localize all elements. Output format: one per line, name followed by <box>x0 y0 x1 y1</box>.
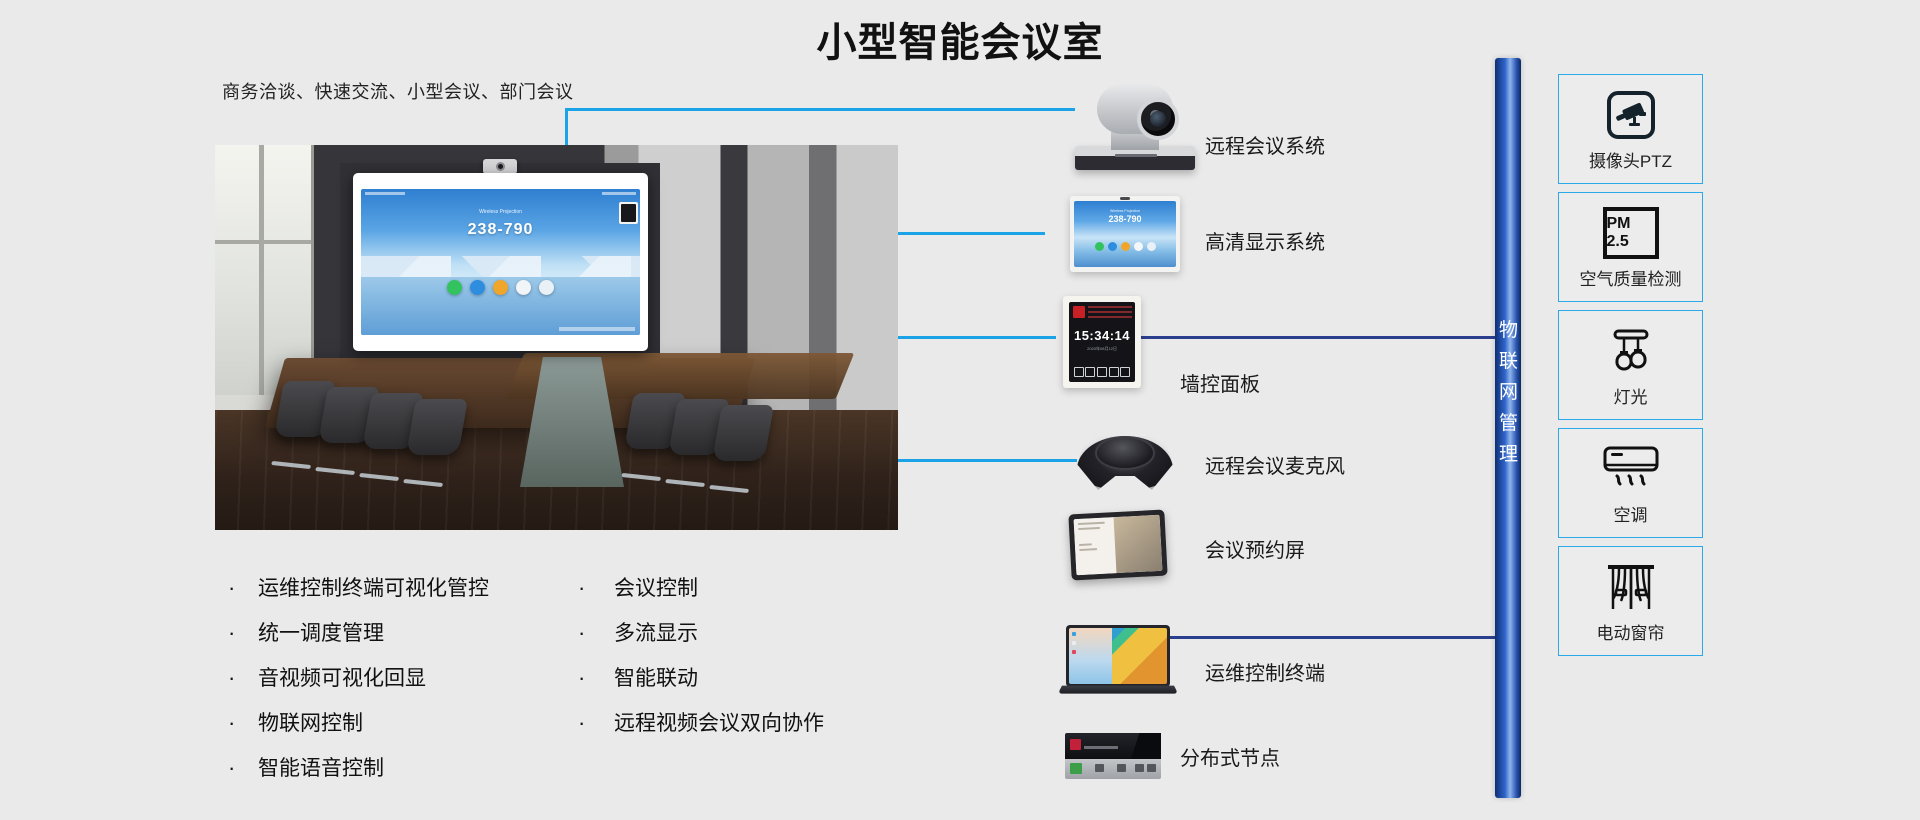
device-hd-display-system: Wireless Projection 238-790 <box>1070 196 1180 272</box>
feature-label: 统一调度管理 <box>258 617 384 647</box>
bullet-icon: · <box>228 710 258 736</box>
connector-line-iot-terminal <box>1140 636 1495 639</box>
node-port-icon <box>1117 764 1126 772</box>
bullet-icon: · <box>228 575 258 601</box>
room-camera-icon <box>483 159 517 174</box>
meeting-room-photo: Wireless Projection 238-790 <box>215 145 898 530</box>
iot-card-camera-ptz[interactable]: 摄像头PTZ <box>1558 74 1703 184</box>
device-meeting-booking-screen <box>1070 512 1166 578</box>
iot-card-air-quality[interactable]: PM 2.5 空气质量检测 <box>1558 192 1703 302</box>
device-label-distributed-node: 分布式节点 <box>1180 742 1280 771</box>
app-files-icon <box>1134 242 1143 251</box>
iot-card-label: 灯光 <box>1614 383 1648 408</box>
iot-label-char: 网 <box>1499 377 1517 408</box>
curtain-icon <box>1602 559 1660 615</box>
iot-card-label: 空气质量检测 <box>1580 265 1682 290</box>
feature-label: 音视频可视化回显 <box>258 662 426 692</box>
pm25-value-text: PM 2.5 <box>1603 207 1659 259</box>
iot-card-motor-curtain[interactable]: 电动窗帘 <box>1558 546 1703 656</box>
list-item: · 会议控制 <box>578 572 908 617</box>
screen-projection-code: 238-790 <box>361 221 640 239</box>
app-browser-icon <box>1147 242 1156 251</box>
page-subtitle: 商务洽谈、快速交流、小型会议、部门会议 <box>222 78 574 104</box>
app-whiteboard-icon <box>470 280 485 295</box>
bullet-icon: · <box>228 755 258 781</box>
node-brand-logo-icon <box>1070 739 1081 750</box>
device-ops-control-terminal <box>1066 625 1182 699</box>
screen-wireless-label: Wireless Projection <box>361 209 640 215</box>
iot-card-label: 电动窗帘 <box>1597 619 1665 644</box>
app-project-icon <box>493 280 508 295</box>
pm25-icon: PM 2.5 <box>1603 205 1659 261</box>
feature-label: 多流显示 <box>614 617 698 647</box>
iot-label-char: 物 <box>1499 315 1517 346</box>
iot-card-lighting[interactable]: 灯光 <box>1558 310 1703 420</box>
device-label-meeting-booking-screen: 会议预约屏 <box>1205 534 1305 563</box>
laptop-app-icon <box>1072 650 1076 654</box>
bullet-icon: · <box>578 620 614 646</box>
iot-label-char: 联 <box>1499 346 1517 377</box>
node-terminal-port-icon <box>1070 763 1082 774</box>
iot-label-char: 理 <box>1499 439 1517 470</box>
list-item: · 多流显示 <box>578 617 908 662</box>
room-wall-control-panel <box>619 202 638 224</box>
slide-canvas: 小型智能会议室 商务洽谈、快速交流、小型会议、部门会议 <box>0 0 1920 820</box>
panel-curtain-icon <box>1120 367 1130 377</box>
feature-list-left: · 运维控制终端可视化管控 · 统一调度管理 · 音视频可视化回显 · 物联网控… <box>228 572 558 797</box>
panel-music-icon <box>1085 367 1095 377</box>
panel-clock: 15:34:14 <box>1069 328 1135 343</box>
air-conditioner-icon <box>1601 441 1661 497</box>
feature-label: 远程视频会议双向协作 <box>614 707 824 737</box>
panel-scene-icon <box>1074 367 1084 377</box>
device-label-hd-display-system: 高清显示系统 <box>1205 226 1325 255</box>
connector-line-iot-panel <box>1140 336 1495 339</box>
feature-label: 会议控制 <box>614 572 698 602</box>
device-label-video-conference-system: 远程会议系统 <box>1205 130 1325 159</box>
room-display-screen: Wireless Projection 238-790 <box>353 173 648 351</box>
app-whiteboard-icon <box>1108 242 1117 251</box>
cctv-camera-icon <box>1606 87 1656 143</box>
app-project-icon <box>1121 242 1130 251</box>
iot-card-air-conditioner[interactable]: 空调 <box>1558 428 1703 538</box>
device-label-wall-control-panel: 墙控面板 <box>1180 368 1260 397</box>
list-item: · 音视频可视化回显 <box>228 662 558 707</box>
node-port-icon <box>1147 764 1156 772</box>
page-title: 小型智能会议室 <box>0 10 1920 68</box>
screen-app-row <box>361 280 640 295</box>
panel-light-icon <box>1109 367 1119 377</box>
device-label-conference-microphone: 远程会议麦克风 <box>1205 450 1345 479</box>
fd-projection-code: 238-790 <box>1074 214 1176 224</box>
connector-line-camera-h <box>565 108 1075 111</box>
app-call-icon <box>447 280 462 295</box>
panel-date: 2020年08月12日 <box>1069 346 1135 352</box>
panel-brand-logo-icon <box>1073 306 1085 318</box>
bullet-icon: · <box>228 620 258 646</box>
panel-ac-icon <box>1097 367 1107 377</box>
app-files-icon <box>516 280 531 295</box>
feature-list-right: · 会议控制 · 多流显示 · 智能联动 · 远程视频会议双向协作 <box>578 572 908 752</box>
feature-label: 智能联动 <box>614 662 698 692</box>
bullet-icon: · <box>228 665 258 691</box>
laptop-app-icon <box>1072 632 1076 636</box>
laptop-app-icon <box>1072 641 1076 645</box>
device-label-ops-control-terminal: 运维控制终端 <box>1205 657 1325 686</box>
list-item: · 远程视频会议双向协作 <box>578 707 908 752</box>
device-conference-microphone <box>1077 428 1173 498</box>
node-port-icon <box>1095 764 1104 772</box>
ptz-camera-icon <box>1097 84 1173 134</box>
feature-label: 智能语音控制 <box>258 752 384 782</box>
device-video-conference-system <box>1075 72 1195 172</box>
pendant-lamp-icon <box>1604 323 1658 379</box>
bullet-icon: · <box>578 575 614 601</box>
list-item: · 智能联动 <box>578 662 908 707</box>
device-wall-control-panel: 15:34:14 2020年08月12日 <box>1063 296 1141 388</box>
fd-wireless-label: Wireless Projection <box>1074 209 1176 213</box>
iot-card-label: 空调 <box>1614 501 1648 526</box>
list-item: · 智能语音控制 <box>228 752 558 797</box>
node-port-icon <box>1135 764 1144 772</box>
iot-management-label: 物 联 网 管 理 <box>1499 315 1517 470</box>
iot-card-label: 摄像头PTZ <box>1589 147 1672 172</box>
feature-label: 运维控制终端可视化管控 <box>258 572 489 602</box>
app-browser-icon <box>539 280 554 295</box>
list-item: · 物联网控制 <box>228 707 558 752</box>
device-distributed-node <box>1065 733 1161 779</box>
app-call-icon <box>1095 242 1104 251</box>
iot-label-char: 管 <box>1499 408 1517 439</box>
feature-label: 物联网控制 <box>258 707 363 737</box>
bullet-icon: · <box>578 665 614 691</box>
bullet-icon: · <box>578 710 614 736</box>
list-item: · 运维控制终端可视化管控 <box>228 572 558 617</box>
list-item: · 统一调度管理 <box>228 617 558 662</box>
